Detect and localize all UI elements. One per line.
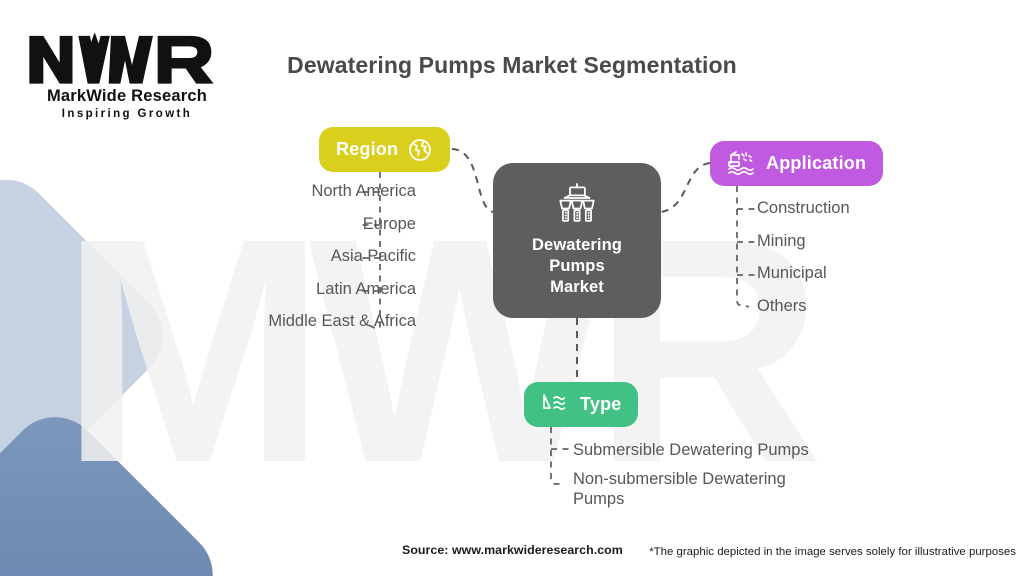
list-item[interactable]: Non-submersible Dewatering Pumps	[573, 469, 831, 509]
infographic-canvas: MWR MarkWide Research Inspiring Growth D…	[0, 0, 1024, 576]
center-line-2: Pumps	[532, 256, 622, 277]
water-pump-icon	[727, 150, 757, 177]
list-item[interactable]: Europe	[120, 215, 416, 234]
list-item[interactable]: Mining	[757, 232, 1007, 251]
spine-type	[551, 427, 565, 484]
branch-pill-region-label: Region	[336, 139, 398, 160]
list-item[interactable]: Submersible Dewatering Pumps	[573, 440, 903, 460]
globe-icon	[407, 137, 433, 163]
branch-list-region: North America Europe Asia Pacific Latin …	[120, 182, 416, 345]
branch-list-application: Construction Mining Municipal Others	[757, 199, 1007, 329]
center-line-3: Market	[532, 277, 622, 298]
connector-application-to-center	[661, 163, 710, 212]
list-item[interactable]: Municipal	[757, 264, 1007, 283]
list-item[interactable]: North America	[120, 182, 416, 201]
list-item[interactable]: Asia Pacific	[120, 247, 416, 266]
source-text: Source: www.markwideresearch.com	[402, 543, 623, 557]
branch-list-type: Submersible Dewatering Pumps Non-submers…	[573, 440, 903, 518]
branch-pill-region[interactable]: Region	[319, 127, 450, 172]
branch-pill-application-label: Application	[766, 153, 866, 174]
list-item[interactable]: Middle East & Africa	[120, 312, 416, 331]
list-item[interactable]: Latin America	[120, 280, 416, 299]
center-line-1: Dewatering	[532, 235, 622, 256]
branch-pill-type-label: Type	[580, 394, 621, 415]
center-node-label: Dewatering Pumps Market	[532, 235, 622, 298]
dam-water-icon	[541, 392, 571, 418]
center-node[interactable]: Dewatering Pumps Market	[493, 163, 661, 318]
connector-region-to-center	[452, 149, 493, 212]
list-item[interactable]: Others	[757, 297, 1007, 316]
disclaimer-text: *The graphic depicted in the image serve…	[649, 546, 1016, 558]
list-item[interactable]: Construction	[757, 199, 1007, 218]
branch-pill-application[interactable]: Application	[710, 141, 883, 186]
spine-application	[737, 186, 749, 307]
pump-station-icon	[548, 183, 606, 227]
branch-pill-type[interactable]: Type	[524, 382, 638, 427]
